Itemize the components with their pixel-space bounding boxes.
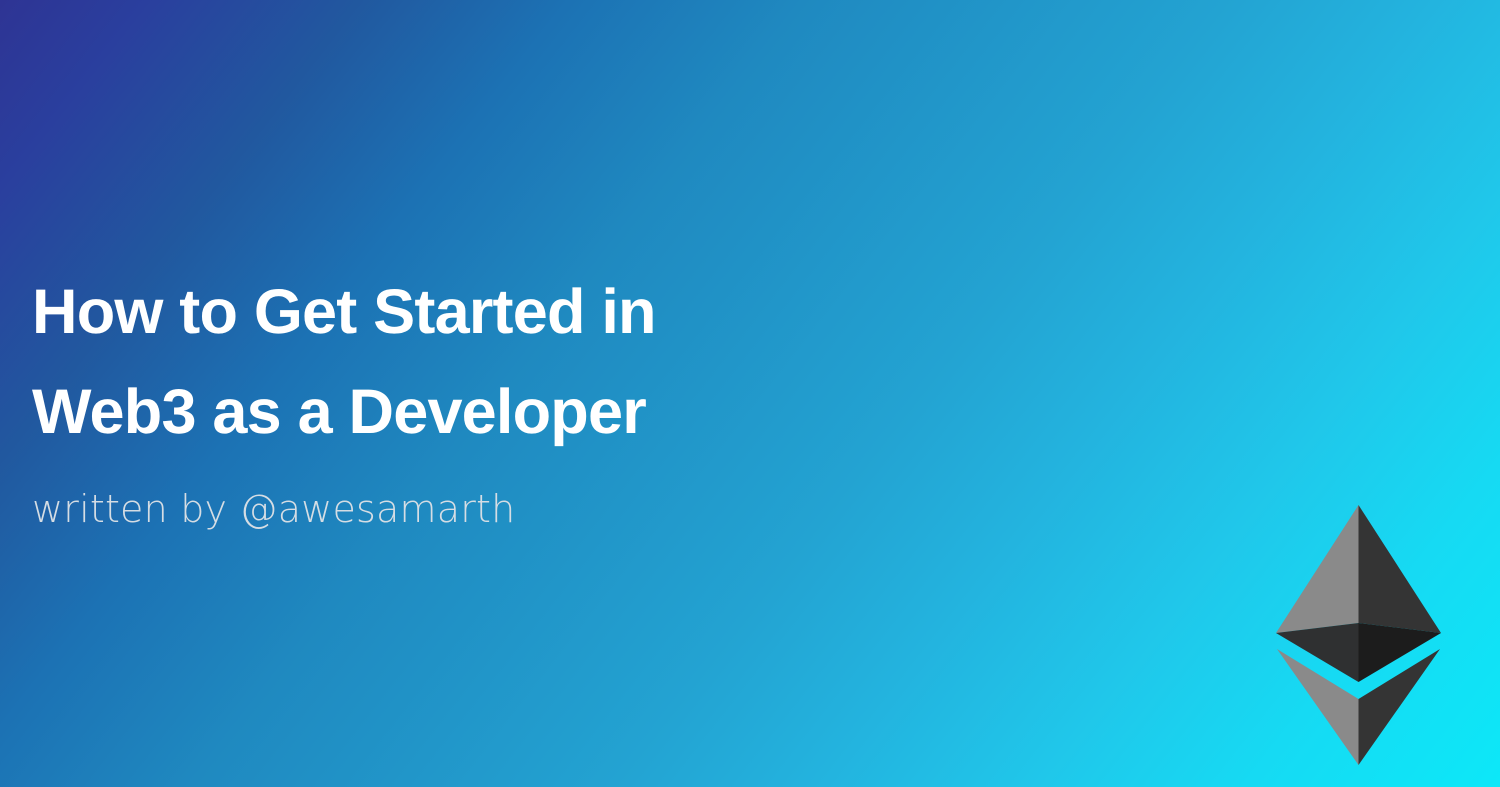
page-title: How to Get Started in Web3 as a Develope… bbox=[32, 262, 932, 462]
banner-text-block: How to Get Started in Web3 as a Develope… bbox=[32, 262, 932, 532]
ethereum-logo-svg bbox=[1270, 498, 1448, 772]
eth-inner-right-facet bbox=[1359, 623, 1442, 682]
eth-upper-right-facet bbox=[1359, 505, 1442, 633]
ethereum-logo bbox=[1270, 498, 1448, 772]
eth-upper-left-facet bbox=[1276, 505, 1359, 633]
author-byline: written by @awesamarth bbox=[32, 486, 932, 532]
article-cover-banner: How to Get Started in Web3 as a Develope… bbox=[0, 0, 1500, 787]
eth-inner-left-facet bbox=[1276, 623, 1359, 682]
